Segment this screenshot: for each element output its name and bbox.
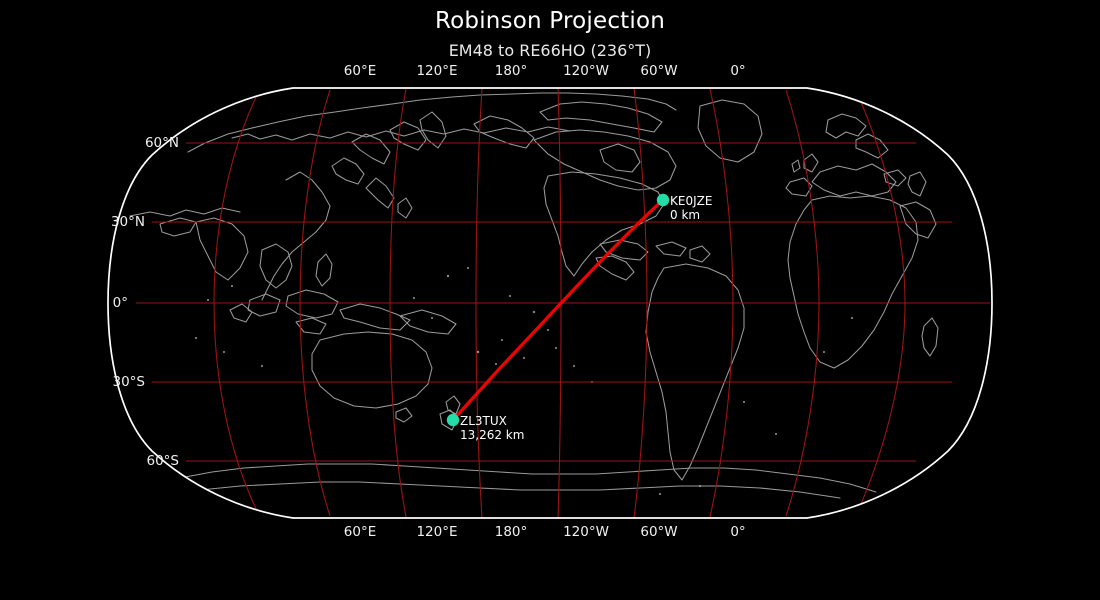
map-background [100,80,1000,530]
lon-label-bottom-2: 180° [495,524,528,540]
station-marker-ke0jze[interactable] [657,194,669,206]
station-callsign-ke0jze: KE0JZE [670,194,712,208]
lon-label-bottom-1: 120°E [416,524,457,540]
station-marker-zl3tux[interactable] [447,414,459,426]
map-canvas: 60°E 120°E 180° 120°W 60°W 0° 60°E 120°E… [0,0,1100,600]
lat-label-0: 0° [113,295,128,311]
lat-label-30n: 30°N [111,214,145,230]
lat-label-60n: 60°N [145,135,179,151]
lon-label-top-5: 0° [730,63,745,79]
map-interior [100,80,1000,530]
station-label-ke0jze: KE0JZE 0 km [670,194,712,222]
lon-label-bottom-5: 0° [730,524,745,540]
map-svg [0,0,1100,600]
station-distance-zl3tux: 13,262 km [460,428,524,442]
lat-label-30s: 30°S [113,374,146,390]
lon-label-bottom-0: 60°E [344,524,376,540]
station-label-zl3tux: ZL3TUX 13,262 km [460,414,524,442]
lon-label-bottom-3: 120°W [563,524,609,540]
lat-label-60s: 60°S [147,453,180,469]
station-distance-ke0jze: 0 km [670,208,712,222]
lon-label-top-2: 180° [495,63,528,79]
map-visualization-root: Robinson Projection EM48 to RE66HO (236°… [0,0,1100,600]
lon-label-top-3: 120°W [563,63,609,79]
lon-label-bottom-4: 60°W [640,524,677,540]
lon-label-top-0: 60°E [344,63,376,79]
lon-label-top-1: 120°E [416,63,457,79]
lon-label-top-4: 60°W [640,63,677,79]
station-callsign-zl3tux: ZL3TUX [460,414,507,428]
